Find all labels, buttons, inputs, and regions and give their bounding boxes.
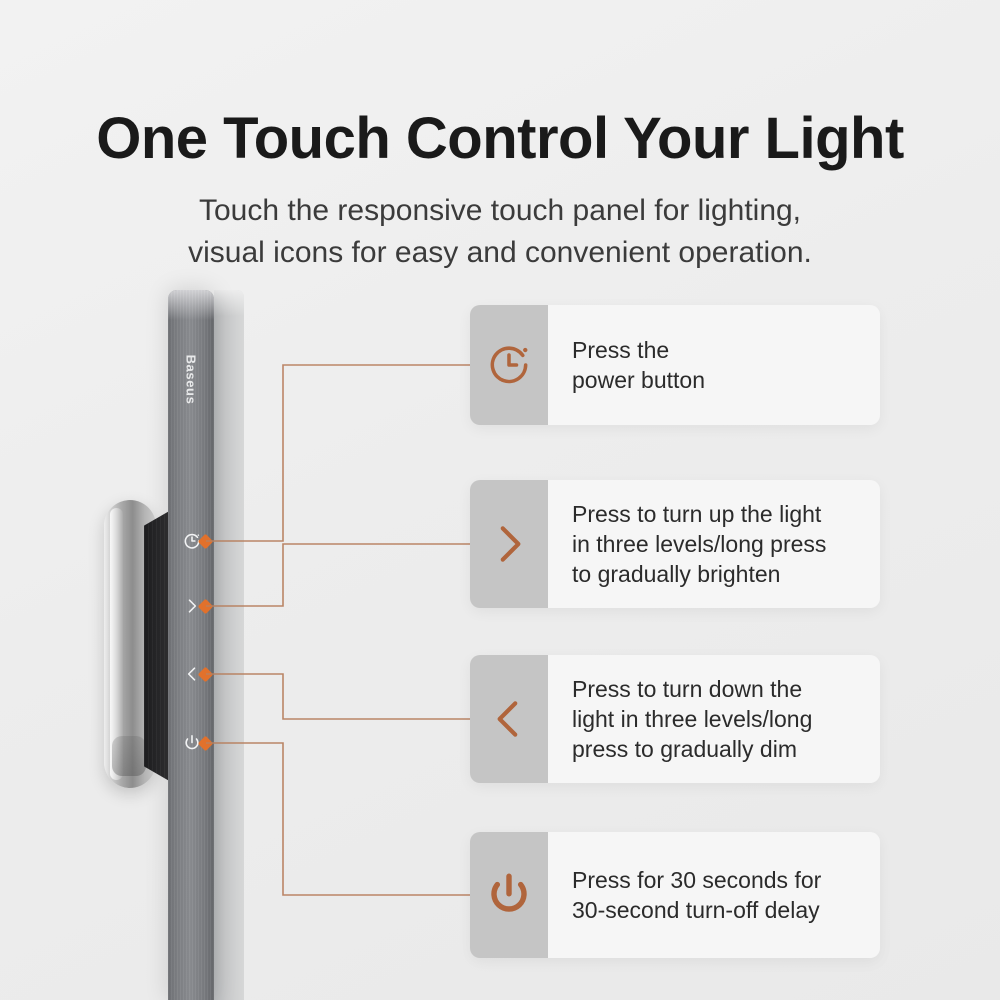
callout-card-dim-text: Press to turn down the light in three le… <box>548 655 880 783</box>
wall-mount-bracket <box>104 500 156 788</box>
subtitle-line-1: Touch the responsive touch panel for lig… <box>0 190 1000 232</box>
power-icon <box>470 832 548 958</box>
chevron-left-icon <box>470 655 548 783</box>
card-2-line-3: to gradually brighten <box>572 559 858 589</box>
callout-card-dim[interactable]: Press to turn down the light in three le… <box>470 655 880 783</box>
callout-card-delay-text: Press for 30 seconds for 30-second turn-… <box>548 832 880 958</box>
connector-dot-4 <box>198 736 214 752</box>
chevron-right-icon <box>470 480 548 608</box>
connector-dot-2 <box>198 599 214 615</box>
page-subtitle: Touch the responsive touch panel for lig… <box>0 190 1000 274</box>
lamp-hinge-wedge <box>144 506 178 786</box>
card-3-line-3: press to gradually dim <box>572 734 858 764</box>
connector-path-4 <box>206 743 470 895</box>
card-3-line-1: Press to turn down the <box>572 674 858 704</box>
card-2-line-2: in three levels/long press <box>572 529 858 559</box>
card-4-line-2: 30-second turn-off delay <box>572 895 858 925</box>
connector-dot-3 <box>198 667 214 683</box>
connector-path-1 <box>206 365 470 541</box>
connector-path-3 <box>206 674 470 719</box>
connector-path-2 <box>206 544 470 606</box>
brand-wordmark: Baseus <box>184 349 199 411</box>
lamp-power-icon[interactable] <box>182 733 202 753</box>
wedge-texture <box>144 506 178 786</box>
page-title: One Touch Control Your Light <box>0 104 1000 174</box>
card-2-line-1: Press to turn up the light <box>572 499 858 529</box>
callout-card-power[interactable]: Press the power button <box>470 305 880 425</box>
callout-card-brighten[interactable]: Press to turn up the light in three leve… <box>470 480 880 608</box>
card-1-line-1: Press the <box>572 335 858 365</box>
lamp-body-front-face <box>168 290 214 1000</box>
lamp-timer-icon[interactable] <box>182 531 202 551</box>
connector-dot-1 <box>198 534 214 550</box>
callout-card-delay[interactable]: Press for 30 seconds for 30-second turn-… <box>470 832 880 958</box>
callout-card-brighten-text: Press to turn up the light in three leve… <box>548 480 880 608</box>
lamp-body-rear-face <box>214 290 244 1000</box>
timer-icon <box>470 305 548 425</box>
card-3-line-2: light in three levels/long <box>572 704 858 734</box>
infographic-stage: One Touch Control Your Light Touch the r… <box>0 0 1000 1000</box>
lamp-chevron-left-icon[interactable] <box>182 664 202 684</box>
card-1-line-2: power button <box>572 365 858 395</box>
lamp-chevron-right-icon[interactable] <box>182 596 202 616</box>
callout-card-power-text: Press the power button <box>548 305 880 425</box>
card-4-line-1: Press for 30 seconds for <box>572 865 858 895</box>
subtitle-line-2: visual icons for easy and convenient ope… <box>0 232 1000 274</box>
